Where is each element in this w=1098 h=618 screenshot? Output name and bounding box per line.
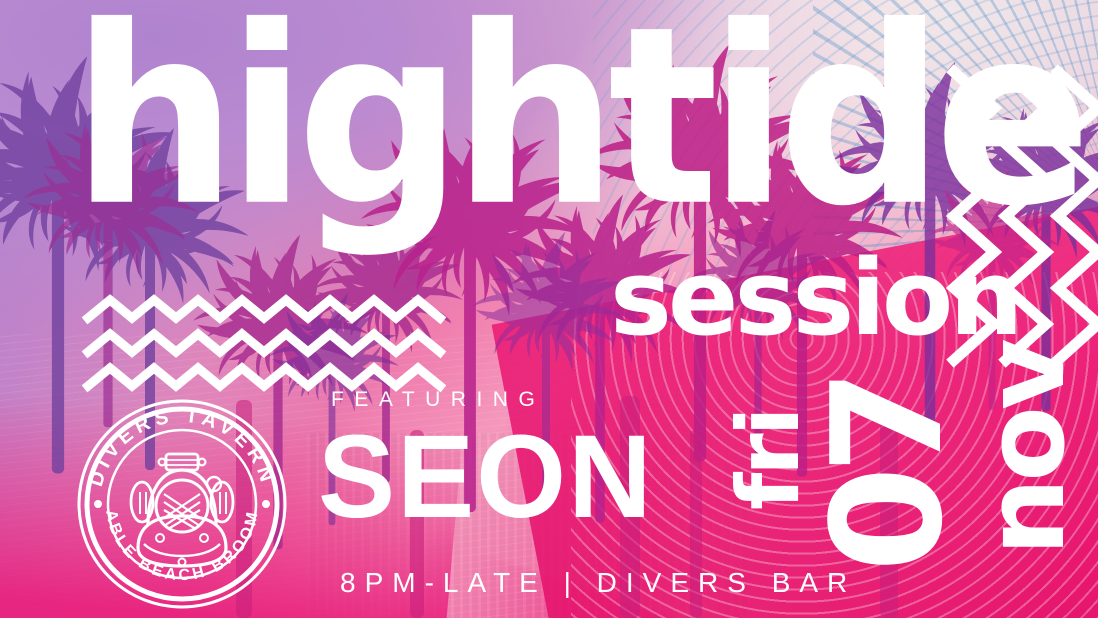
page-title: hightide bbox=[72, 0, 1082, 240]
artist-name: SEON bbox=[318, 418, 654, 536]
page-subtitle: session bbox=[610, 246, 1019, 350]
diving-helmet-icon bbox=[131, 454, 233, 566]
featuring-label: FEATURING bbox=[331, 388, 545, 412]
chevron-zigzag-rows bbox=[86, 296, 446, 376]
date-day: 07 bbox=[812, 376, 964, 572]
event-poster: hightide session FEATURING SEON 8PM-LATE… bbox=[0, 0, 1098, 618]
date-month: nov bbox=[970, 342, 1080, 556]
divers-tavern-logo: DIVERS TAVERN CABLE BEACH BROOME bbox=[76, 398, 288, 610]
event-date: fri 07 nov bbox=[700, 340, 1090, 590]
